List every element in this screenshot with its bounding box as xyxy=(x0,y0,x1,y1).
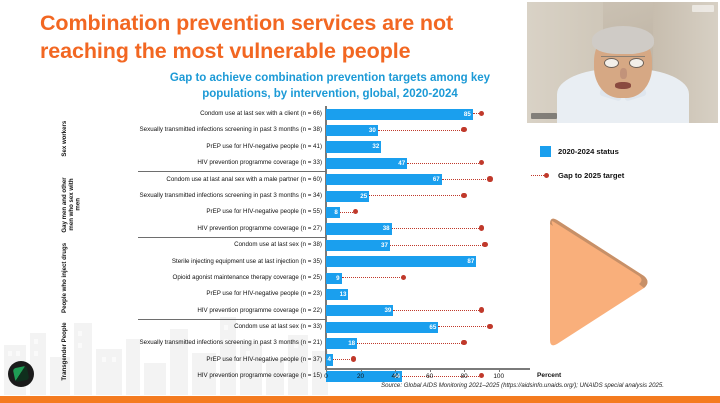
legend-gap-marker-icon xyxy=(540,170,551,181)
value-axis-tick xyxy=(326,368,327,372)
legend-swatch-icon xyxy=(540,146,551,157)
chart-row: Sexually transmitted infections screenin… xyxy=(60,188,530,204)
value-axis-tick-label: 40 xyxy=(392,373,399,380)
chart-row: PrEP use for HIV-negative people (n = 55… xyxy=(60,204,530,220)
chart-bar: 18 xyxy=(326,338,357,349)
value-axis-tick-label: 20 xyxy=(357,373,364,380)
value-axis-tick-label: 0 xyxy=(324,373,328,380)
chart-subtitle: Gap to achieve combination prevention ta… xyxy=(150,70,510,103)
chart-group-separator xyxy=(138,237,326,238)
chart-bar: 65 xyxy=(326,322,438,333)
value-axis-tick xyxy=(361,368,362,372)
chart-row: HIV prevention programme coverage (n = 2… xyxy=(60,303,530,319)
chart-bar: 4 xyxy=(326,354,333,365)
value-axis-tick-label: 100 xyxy=(493,373,504,380)
chart-bar-value: 25 xyxy=(360,191,367,202)
chart-bar: 32 xyxy=(326,141,381,152)
chart-bar-value: 65 xyxy=(429,322,436,333)
chart-row: PrEP use for HIV-negative people (n = 37… xyxy=(60,352,530,368)
chart-bar-value: 30 xyxy=(369,125,376,136)
chart-row: Condom use at last sex (n = 38)37 xyxy=(60,237,530,253)
gap-target-marker-icon xyxy=(482,242,487,247)
legend-label-status: 2020-2024 status xyxy=(558,147,619,156)
gap-connector-line xyxy=(390,245,485,246)
chart-group-separator xyxy=(138,171,326,172)
chart-row: PrEP use for HIV-negative people (n = 41… xyxy=(60,139,530,155)
chart-bar-value: 9 xyxy=(336,273,339,284)
chart-bar-value: 4 xyxy=(327,354,330,365)
chart-group-label: Transgender People xyxy=(62,319,122,385)
chart-bar: 87 xyxy=(326,256,476,267)
speaker-video-tile[interactable] xyxy=(527,2,718,123)
chart-bar-value: 85 xyxy=(464,109,471,120)
value-axis-unit-label: Percent xyxy=(537,372,561,379)
chart-row: Condom use at last anal sex with a male … xyxy=(60,172,530,188)
chart-row: HIV prevention programme coverage (n = 3… xyxy=(60,155,530,171)
chart-row: Condom use at last sex with a client (n … xyxy=(60,106,530,122)
gap-connector-line xyxy=(442,179,490,180)
chart-group-label: Gay men and other men who sex with men xyxy=(62,172,122,238)
value-axis-tick-label: 80 xyxy=(461,373,468,380)
chart-bar-value: 13 xyxy=(340,289,347,300)
slide-bottom-accent-bar xyxy=(0,396,720,403)
gap-connector-line xyxy=(357,343,464,344)
legend-label-target: Gap to 2025 target xyxy=(558,171,624,180)
chart-row: Sexually transmitted infections screenin… xyxy=(60,122,530,138)
chart-bar-value: 39 xyxy=(384,305,391,316)
chart-bar-value: 67 xyxy=(433,174,440,185)
chart-bar-value: 38 xyxy=(383,223,390,234)
chart-bar: 37 xyxy=(326,240,390,251)
gap-target-marker-icon xyxy=(353,209,358,214)
chart-bar: 67 xyxy=(326,174,442,185)
chart-bar-value: 37 xyxy=(381,240,388,251)
chart-legend: 2020-2024 status Gap to 2025 target xyxy=(540,146,715,194)
chart-group-label: Sex workers xyxy=(62,106,122,172)
gap-connector-line xyxy=(438,326,490,327)
gap-target-marker-icon xyxy=(461,340,466,345)
chart-row: Opioid agonist maintenance therapy cover… xyxy=(60,270,530,286)
gap-target-marker-icon xyxy=(461,127,466,132)
chart-row: Condom use at last sex (n = 33)65 xyxy=(60,319,530,335)
chart-bar-value: 18 xyxy=(348,338,355,349)
chart-bar: 47 xyxy=(326,158,407,169)
orange-triangle-shape xyxy=(540,212,652,352)
value-axis-tick-label: 60 xyxy=(426,373,433,380)
chart-bar-value: 87 xyxy=(467,256,474,267)
video-badge-icon xyxy=(692,5,714,12)
chart-bar-value: 8 xyxy=(334,207,337,218)
chart-bar: 9 xyxy=(326,273,342,284)
gap-connector-line xyxy=(407,163,481,164)
chart-bar: 13 xyxy=(326,289,348,300)
chart-bar-value: 32 xyxy=(372,141,379,152)
bar-chart: Condom use at last sex with a client (n … xyxy=(60,106,530,391)
gap-connector-line xyxy=(342,277,404,278)
chart-bar: 85 xyxy=(326,109,473,120)
source-note: Source: Global AIDS Monitoring 2021–2025… xyxy=(330,382,715,389)
value-axis-tick xyxy=(464,368,465,372)
gap-target-marker-icon xyxy=(479,225,484,230)
gap-target-marker-icon xyxy=(461,193,466,198)
chart-row: Sexually transmitted infections screenin… xyxy=(60,335,530,351)
video-name-label xyxy=(531,113,557,119)
gap-target-marker-icon xyxy=(479,160,484,165)
value-axis-tick xyxy=(499,368,500,372)
chart-bar: 30 xyxy=(326,125,378,136)
gap-connector-line xyxy=(369,195,464,196)
value-axis-tick xyxy=(430,368,431,372)
gap-connector-line xyxy=(393,310,481,311)
presentation-slide: Combination prevention services are not … xyxy=(0,0,720,403)
gap-target-marker-icon xyxy=(401,275,406,280)
chart-bar: 8 xyxy=(326,207,340,218)
chart-bar: 39 xyxy=(326,305,393,316)
chart-row: HIV prevention programme coverage (n = 2… xyxy=(60,221,530,237)
chart-group-separator xyxy=(138,319,326,320)
chart-rows: Condom use at last sex with a client (n … xyxy=(60,106,530,385)
value-axis-tick xyxy=(395,368,396,372)
chart-row: PrEP use for HIV-negative people (n = 23… xyxy=(60,286,530,302)
chart-bar: 38 xyxy=(326,223,392,234)
chart-group-label: People who inject drugs xyxy=(62,237,122,319)
gap-target-marker-icon xyxy=(487,324,492,329)
gap-target-marker-icon xyxy=(479,111,484,116)
legend-item-status: 2020-2024 status xyxy=(540,146,715,157)
gap-target-marker-icon xyxy=(479,373,484,378)
gap-target-marker-icon xyxy=(479,307,484,312)
gap-connector-line xyxy=(378,130,464,131)
gap-connector-line xyxy=(402,376,481,377)
chart-row: Sterile injecting equipment use at last … xyxy=(60,254,530,270)
organization-logo xyxy=(8,361,34,387)
chart-bar: 25 xyxy=(326,191,369,202)
legend-item-target: Gap to 2025 target xyxy=(540,170,715,181)
gap-connector-line xyxy=(392,228,482,229)
gap-target-marker-icon xyxy=(351,356,356,361)
slide-title: Combination prevention services are not … xyxy=(40,10,510,65)
chart-bar-value: 47 xyxy=(398,158,405,169)
gap-target-marker-icon xyxy=(487,176,492,181)
